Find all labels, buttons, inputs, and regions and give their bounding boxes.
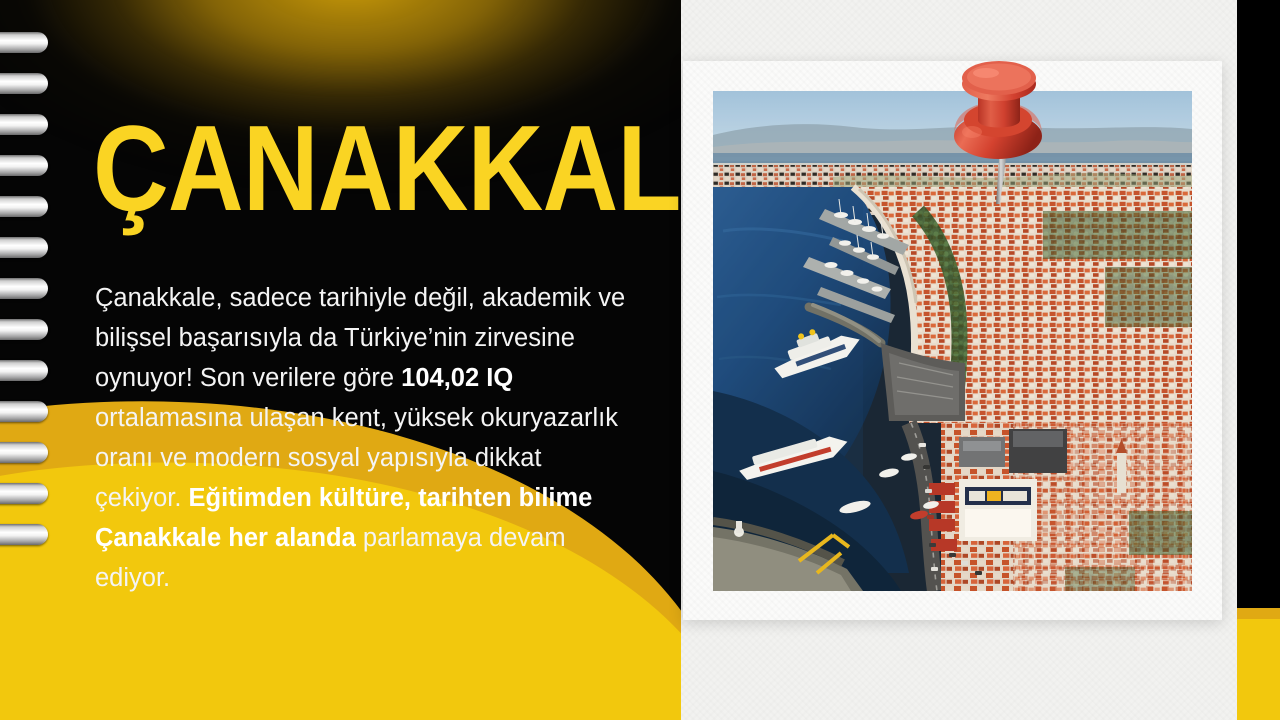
spiral-ring (0, 360, 48, 381)
red-pushpin-icon (940, 48, 1060, 208)
spiral-ring (0, 32, 48, 53)
body-paragraph: Çanakkale, sadece tarihiyle değil, akade… (95, 278, 633, 598)
spiral-ring (0, 483, 48, 504)
spiral-ring (0, 278, 48, 299)
spiral-ring (0, 155, 48, 176)
spiral-ring (0, 442, 48, 463)
pushpin-graphic (940, 48, 1060, 208)
slide-canvas: ÇANAKKALE Çanakkale, sadece tarihiyle de… (0, 0, 1280, 720)
spiral-ring (0, 114, 48, 135)
body-text-run: Çanakkale, sadece tarihiyle değil, akade… (95, 284, 625, 392)
right-edge-yellow-accent (1237, 608, 1280, 720)
spiral-ring (0, 73, 48, 94)
spiral-ring (0, 237, 48, 258)
page-title: ÇANAKKALE (93, 112, 750, 224)
spiral-ring (0, 196, 48, 217)
right-edge-strip (1237, 0, 1280, 720)
spiral-ring (0, 524, 48, 545)
spiral-ring (0, 319, 48, 340)
spiral-ring (0, 401, 48, 422)
spiral-binding (0, 0, 52, 720)
body-emphasis-run: 104,02 IQ (401, 364, 513, 392)
